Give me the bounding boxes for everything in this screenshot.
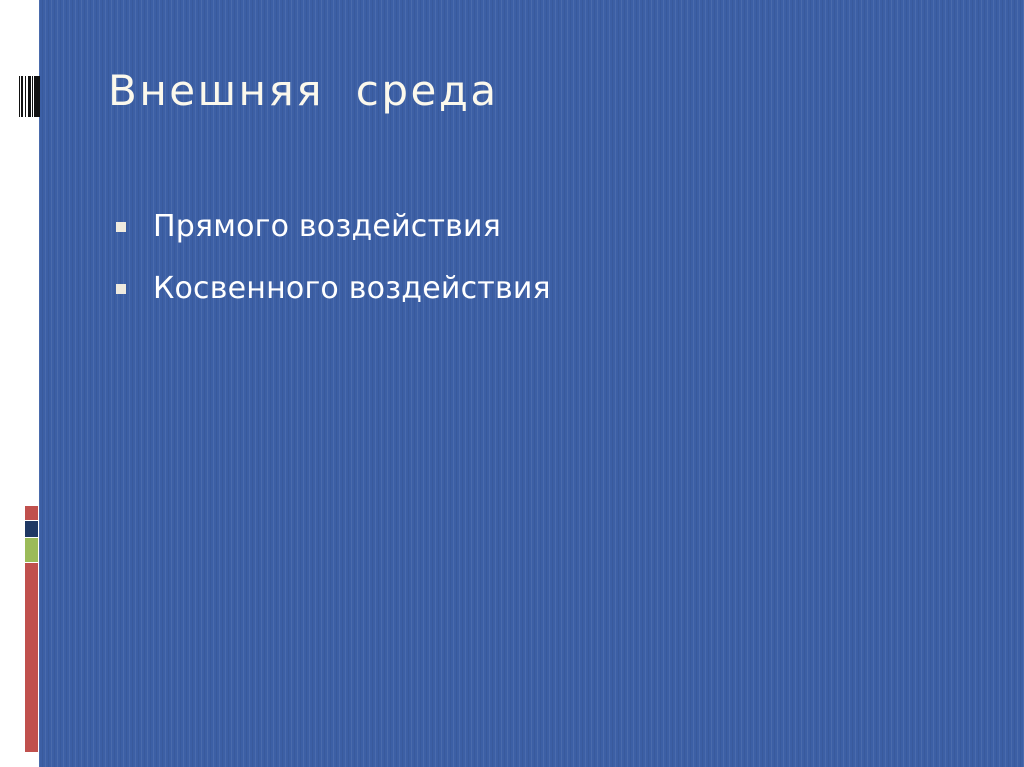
barcode-stripe [32,76,33,117]
list-item: Косвенного воздействия [116,270,896,308]
barcode-stripe [21,76,23,117]
list-item-label: Косвенного воздействия [153,270,551,308]
presentation-slide: Внешняя среда Прямого воздействия Косвен… [0,0,1024,767]
accent-chip-red [25,506,38,520]
slide-bullet-list: Прямого воздействия Косвенного воздейств… [116,208,896,331]
slide-title: Внешняя среда [108,68,928,114]
list-item-label: Прямого воздействия [153,208,501,246]
barcode-ornament-icon [19,76,40,117]
barcode-stripe [28,76,31,117]
slide-background-striped [39,0,1024,767]
accent-bar-red [25,563,38,752]
accent-chip-green [25,538,38,562]
bullet-square-icon [116,284,126,294]
barcode-stripe [25,76,26,117]
barcode-stripe [19,76,20,117]
accent-chip-navy [25,521,38,537]
bullet-square-icon [116,222,126,232]
barcode-stripe [34,76,40,117]
list-item: Прямого воздействия [116,208,896,246]
